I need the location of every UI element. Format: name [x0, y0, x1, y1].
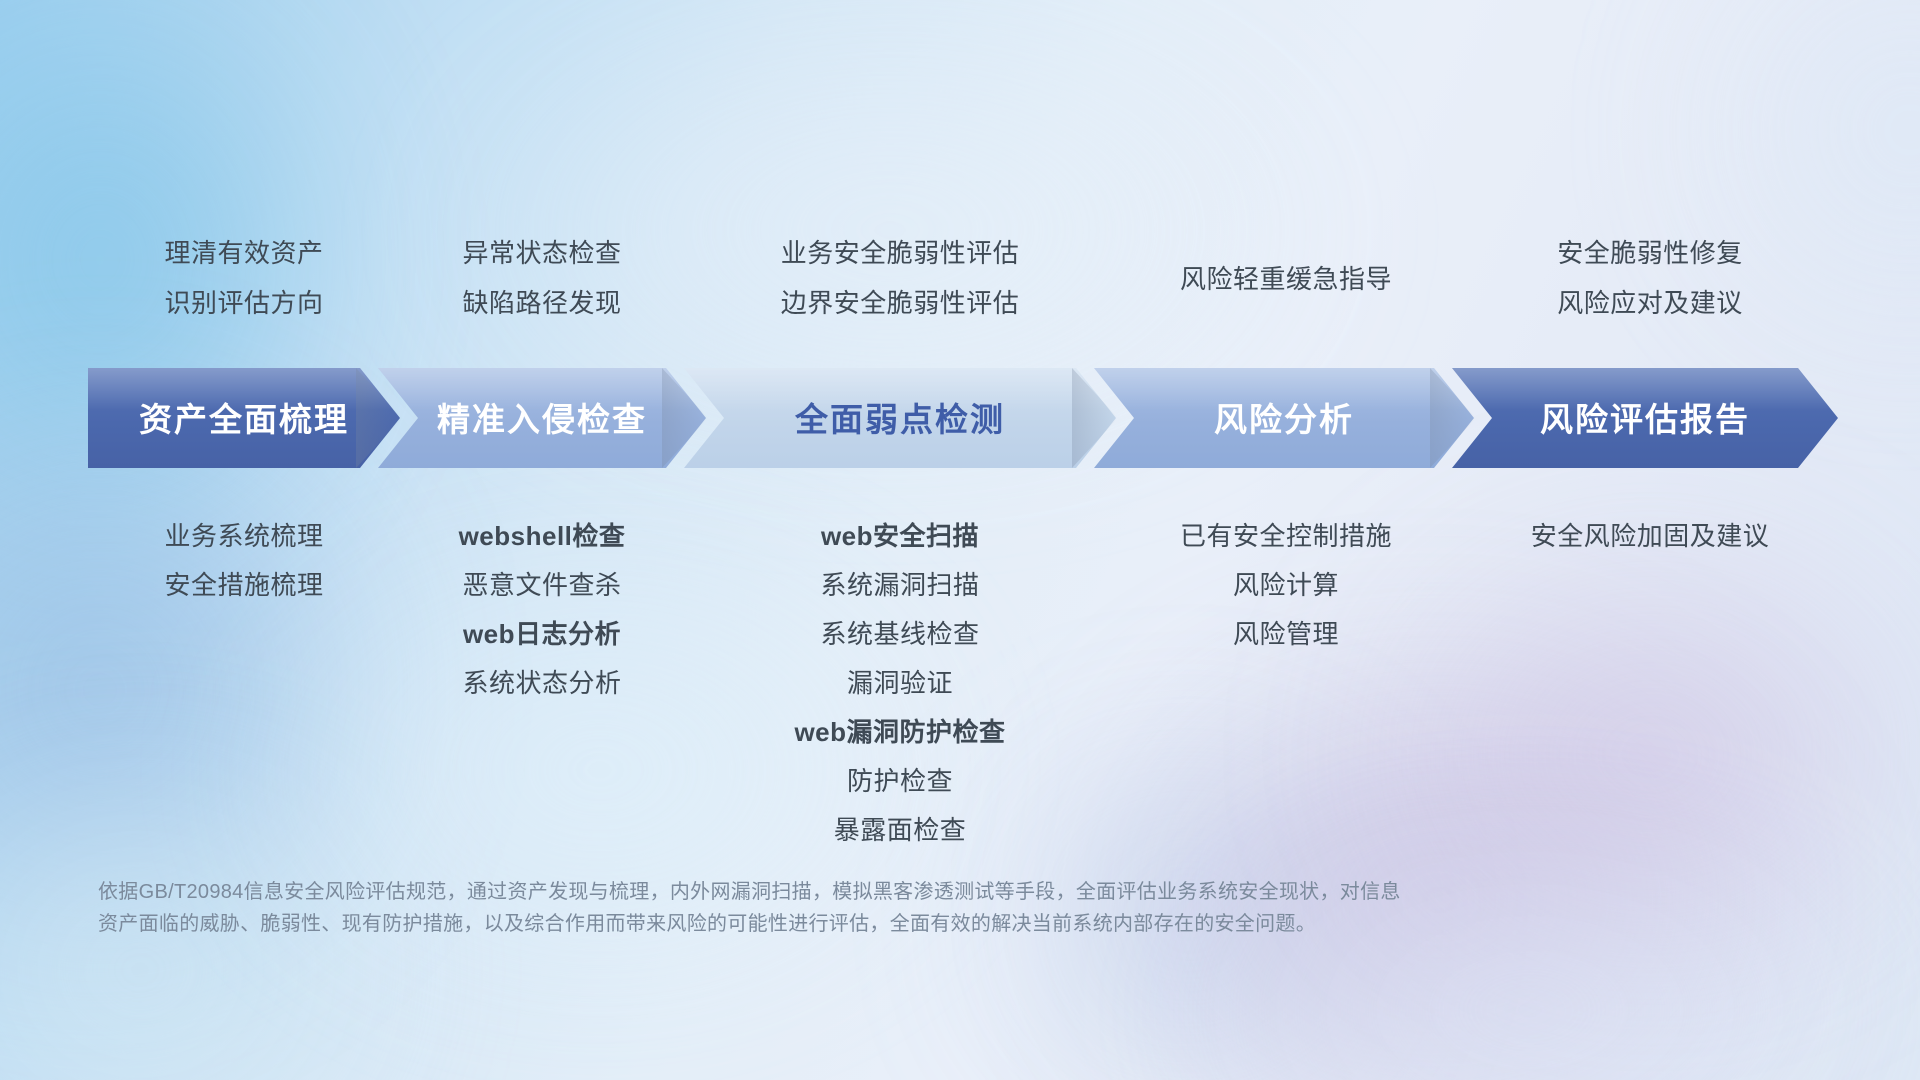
- stage-3-output-item: web安全扫描: [678, 512, 1122, 561]
- stage-3-output-item: 漏洞验证: [678, 659, 1122, 708]
- footer-line-1: 依据GB/T20984信息安全风险评估规范，通过资产发现与梳理，内外网漏洞扫描，…: [98, 876, 1618, 908]
- stage-1-output-item: 业务系统梳理: [72, 512, 416, 561]
- stage-3-output-item: 系统漏洞扫描: [678, 561, 1122, 610]
- stage-5-input-item: 安全脆弱性修复: [1450, 228, 1850, 278]
- stage-4-output-item: 风险管理: [1106, 610, 1466, 659]
- footer-description: 依据GB/T20984信息安全风险评估规范，通过资产发现与梳理，内外网漏洞扫描，…: [98, 876, 1618, 940]
- stage-2-outputs: webshell检查 恶意文件查杀 web日志分析 系统状态分析: [392, 512, 692, 708]
- stage-5-outputs: 安全风险加固及建议: [1450, 512, 1850, 561]
- stage-1-input-item: 理清有效资产: [72, 228, 416, 278]
- stage-5-input-item: 风险应对及建议: [1450, 278, 1850, 328]
- stage-4-output-item: 风险计算: [1106, 561, 1466, 610]
- stage-2-input-item: 异常状态检查: [392, 228, 692, 278]
- stage-1-inputs: 理清有效资产 识别评估方向: [72, 228, 416, 328]
- stage-3-output-item: 系统基线检查: [678, 610, 1122, 659]
- stage-5-output-item: 安全风险加固及建议: [1450, 512, 1850, 561]
- stage-3-input-item: 边界安全脆弱性评估: [678, 278, 1122, 328]
- stage-4-outputs: 已有安全控制措施 风险计算 风险管理: [1106, 512, 1466, 659]
- stage-3-input-item: 业务安全脆弱性评估: [678, 228, 1122, 278]
- stage-2-output-item: 恶意文件查杀: [392, 561, 692, 610]
- stage-1-output-item: 安全措施梳理: [72, 561, 416, 610]
- stage-2-input-item: 缺陷路径发现: [392, 278, 692, 328]
- stage-2-output-item: web日志分析: [392, 610, 692, 659]
- stage-3-output-item: web漏洞防护检查: [678, 708, 1122, 757]
- stage-4-output-item: 已有安全控制措施: [1106, 512, 1466, 561]
- stage-4-inputs: 风险轻重缓急指导: [1106, 254, 1466, 304]
- stage-2-output-item: webshell检查: [392, 512, 692, 561]
- stage-2-output-item: 系统状态分析: [392, 659, 692, 708]
- stage-2-inputs: 异常状态检查 缺陷路径发现: [392, 228, 692, 328]
- slide-canvas: 资产全面梳理 精准入侵检查 全面弱点检测 风险分析 风险评估报告 理清有效资产: [0, 0, 1920, 1080]
- stage-1-input-item: 识别评估方向: [72, 278, 416, 328]
- stage-3-outputs: web安全扫描 系统漏洞扫描 系统基线检查 漏洞验证 web漏洞防护检查 防护检…: [678, 512, 1122, 855]
- footer-line-2: 资产面临的威胁、脆弱性、现有防护措施，以及综合作用而带来风险的可能性进行评估，全…: [98, 908, 1618, 940]
- stage-5-inputs: 安全脆弱性修复 风险应对及建议: [1450, 228, 1850, 328]
- stage-1-outputs: 业务系统梳理 安全措施梳理: [72, 512, 416, 610]
- stage-3-output-item: 暴露面检查: [678, 806, 1122, 855]
- stage-3-output-item: 防护检查: [678, 757, 1122, 806]
- stage-4-input-item: 风险轻重缓急指导: [1106, 254, 1466, 304]
- stage-3-inputs: 业务安全脆弱性评估 边界安全脆弱性评估: [678, 228, 1122, 328]
